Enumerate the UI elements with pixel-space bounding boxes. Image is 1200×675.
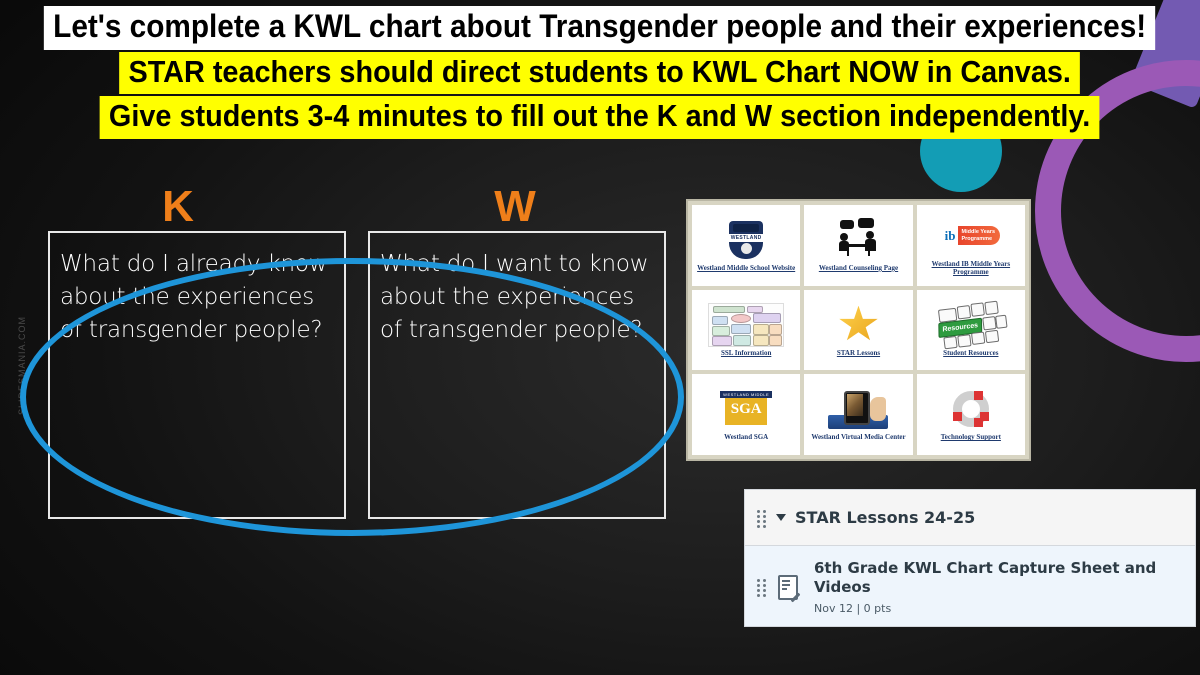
kwl-column-letter-k: K (148, 182, 208, 232)
kwl-prompt-k: What do I already know about the experie… (60, 248, 340, 347)
heading-line-3-row: Give students 3-4 minutes to fill out th… (0, 96, 1200, 138)
slide-canvas: SLIDESMANIA.COM Let's complete a KWL cha… (0, 0, 1200, 675)
ib-middle-years-icon: ib Middle Years Programme (942, 214, 1000, 258)
drag-handle-icon[interactable] (757, 579, 766, 595)
slidesmania-watermark: SLIDESMANIA.COM (17, 295, 27, 415)
kwl-column-letter-w: W (485, 182, 545, 232)
heading-line-3: Give students 3-4 minutes to fill out th… (100, 96, 1100, 138)
virtual-media-icon (828, 387, 888, 431)
grid-tile-label: Westland Counseling Page (819, 264, 898, 273)
grid-tile-label: Westland IB Middle Years Programme (919, 260, 1023, 278)
counseling-people-icon (830, 218, 886, 262)
assignment-title[interactable]: 6th Grade KWL Chart Capture Sheet and Vi… (814, 559, 1183, 598)
heading-line-1-row: Let's complete a KWL chart about Transge… (0, 6, 1200, 50)
grid-tile-student-resources[interactable]: Resources Student Resources (917, 290, 1025, 371)
canvas-assignment-row[interactable]: 6th Grade KWL Chart Capture Sheet and Vi… (745, 546, 1195, 627)
sga-top-band: WESTLAND MIDDLE (720, 391, 772, 398)
canvas-module-panel: STAR Lessons 24-25 6th Grade KWL Chart C… (744, 489, 1196, 627)
sga-logo-icon: WESTLAND MIDDLE SGA (720, 387, 772, 431)
keyboard-resources-icon: Resources (936, 303, 1006, 347)
chevron-down-icon[interactable] (776, 514, 786, 521)
ib-band-line1: Middle Years (961, 229, 995, 235)
grid-tile-westland-website[interactable]: WESTLAND Westland Middle School Website (692, 205, 800, 286)
grid-tile-ib-myp[interactable]: ib Middle Years Programme Westland IB Mi… (917, 205, 1025, 286)
grid-tile-label: Westland Middle School Website (697, 264, 795, 273)
ib-band-line2: Programme (961, 236, 992, 242)
ib-band: Middle Years Programme (958, 226, 1000, 245)
shield-wordmark: WESTLAND (729, 234, 763, 242)
heading-line-1: Let's complete a KWL chart about Transge… (44, 6, 1156, 50)
ib-wordmark: ib (942, 227, 959, 244)
westland-shield-icon: WESTLAND (729, 218, 763, 262)
drag-handle-icon[interactable] (757, 510, 766, 526)
canvas-module-title: STAR Lessons 24-25 (795, 508, 975, 527)
gold-star-icon (838, 303, 878, 347)
grid-tile-label: Westland Virtual Media Center (811, 433, 905, 442)
assignment-text-block: 6th Grade KWL Chart Capture Sheet and Vi… (814, 559, 1183, 615)
canvas-module-header[interactable]: STAR Lessons 24-25 (745, 490, 1195, 546)
grid-tile-label: STAR Lessons (837, 349, 880, 358)
grid-tile-westland-sga[interactable]: WESTLAND MIDDLE SGA Westland SGA (692, 374, 800, 455)
grid-tile-ssl-information[interactable]: SSL Information (692, 290, 800, 371)
resource-link-grid-inner: WESTLAND Westland Middle School Website (692, 205, 1025, 455)
life-preserver-icon (953, 387, 989, 431)
grid-tile-virtual-media-center[interactable]: Westland Virtual Media Center (804, 374, 912, 455)
sga-wordmark: SGA (725, 398, 767, 420)
grid-tile-label: Technology Support (941, 433, 1001, 442)
kwl-prompt-w: What do I want to know about the experie… (380, 248, 660, 347)
heading-line-2-row: STAR teachers should direct students to … (0, 52, 1200, 94)
assignment-document-icon (778, 575, 800, 599)
resource-link-grid: WESTLAND Westland Middle School Website (686, 199, 1031, 461)
grid-tile-technology-support[interactable]: Technology Support (917, 374, 1025, 455)
grid-tile-label: Westland SGA (724, 433, 768, 442)
heading-line-2: STAR teachers should direct students to … (119, 52, 1080, 94)
flowchart-icon (708, 303, 784, 347)
grid-tile-star-lessons[interactable]: STAR Lessons (804, 290, 912, 371)
grid-tile-counseling-page[interactable]: Westland Counseling Page (804, 205, 912, 286)
grid-tile-label: Student Resources (943, 349, 998, 358)
slide-heading: Let's complete a KWL chart about Transge… (0, 6, 1200, 141)
grid-tile-label: SSL Information (721, 349, 771, 358)
assignment-meta: Nov 12 | 0 pts (814, 602, 1183, 615)
